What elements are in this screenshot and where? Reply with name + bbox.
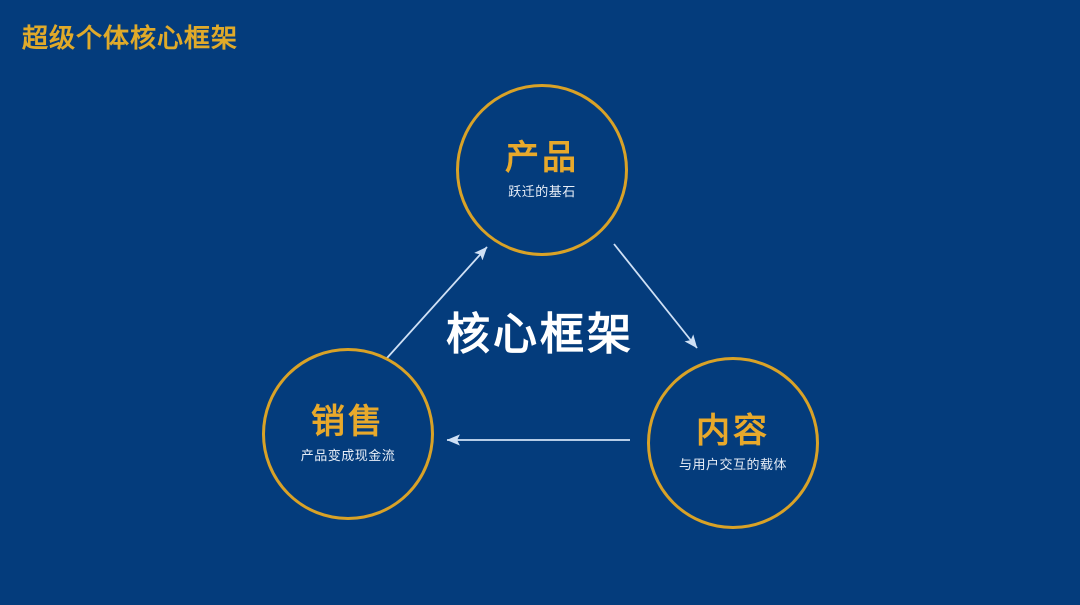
diagram-center-label: 核心框架 [0, 298, 1080, 362]
node-product-title: 产品 [505, 140, 579, 177]
slide-canvas: 超级个体核心框架 产品 跃迁的基石 内容 与用户交互的载体 销售 产品变成现金流… [0, 0, 1080, 605]
node-content[interactable]: 内容 与用户交互的载体 [647, 357, 819, 529]
node-sales-subtitle: 产品变成现金流 [301, 448, 396, 464]
node-sales[interactable]: 销售 产品变成现金流 [262, 348, 434, 520]
node-content-title: 内容 [696, 413, 770, 450]
node-product-subtitle: 跃迁的基石 [508, 184, 576, 200]
node-content-subtitle: 与用户交互的载体 [679, 457, 787, 473]
node-sales-title: 销售 [311, 404, 385, 441]
node-product[interactable]: 产品 跃迁的基石 [456, 84, 628, 256]
